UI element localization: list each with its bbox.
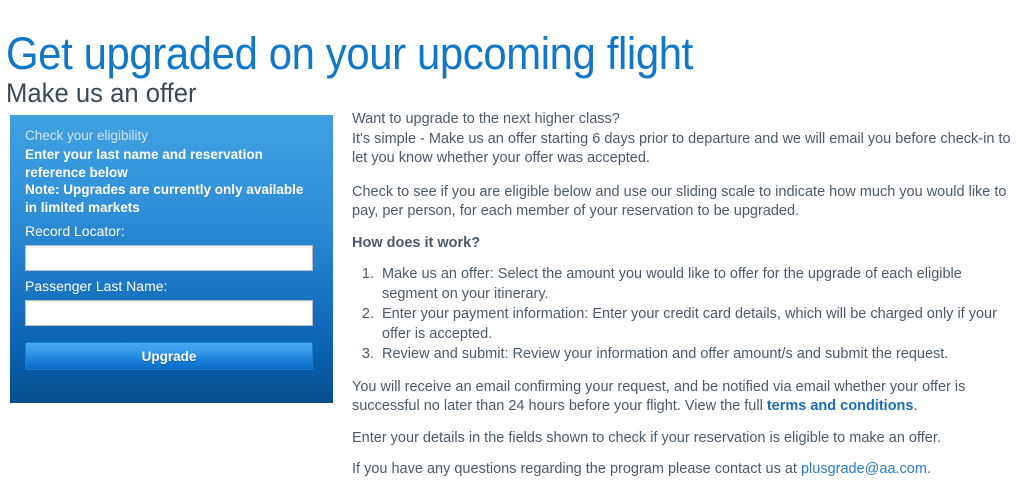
page-title: Get upgraded on your upcoming flight <box>6 26 693 82</box>
record-locator-label: Record Locator: <box>25 222 318 241</box>
eligibility-panel-heading: Check your eligibility <box>25 127 318 145</box>
list-item: Review and submit: Review your informati… <box>378 345 1012 365</box>
passenger-last-name-label: Passenger Last Name: <box>25 277 318 296</box>
enter-details-paragraph: Enter your details in the fields shown t… <box>352 429 1012 449</box>
contact-paragraph: If you have any questions regarding the … <box>352 460 1012 480</box>
intro-line-1: Want to upgrade to the next higher class… <box>352 111 620 127</box>
intro-line-2: It's simple - Make us an offer starting … <box>352 131 1011 167</box>
eligibility-instruction-text: Enter your last name and reservation ref… <box>25 146 318 181</box>
confirmation-text-after-link: . <box>913 398 917 414</box>
terms-and-conditions-link[interactable]: terms and conditions <box>767 398 914 414</box>
content-column: Want to upgrade to the next higher class… <box>352 110 1012 492</box>
passenger-last-name-input[interactable] <box>25 300 313 326</box>
list-item: Enter your payment information: Enter yo… <box>378 305 1012 344</box>
contact-text-before-link: If you have any questions regarding the … <box>352 461 801 477</box>
list-item: Make us an offer: Select the amount you … <box>378 265 1012 304</box>
intro-paragraph: Want to upgrade to the next higher class… <box>352 110 1012 169</box>
upgrade-button[interactable]: Upgrade <box>25 342 313 370</box>
how-it-works-heading: How does it work? <box>352 234 1012 254</box>
page-root: Get upgraded on your upcoming flight Mak… <box>0 0 1018 443</box>
contact-email-link[interactable]: plusgrade@aa.com <box>801 461 927 477</box>
record-locator-input[interactable] <box>25 245 313 271</box>
eligibility-panel: Check your eligibility Enter your last n… <box>10 115 333 403</box>
eligibility-note-text: Note: Upgrades are currently only availa… <box>25 181 318 216</box>
contact-text-after-link: . <box>927 461 931 477</box>
confirmation-paragraph: You will receive an email confirming you… <box>352 378 1012 417</box>
eligibility-paragraph: Check to see if you are eligible below a… <box>352 183 1012 222</box>
page-subtitle: Make us an offer <box>6 77 197 109</box>
steps-list: Make us an offer: Select the amount you … <box>352 265 1012 365</box>
